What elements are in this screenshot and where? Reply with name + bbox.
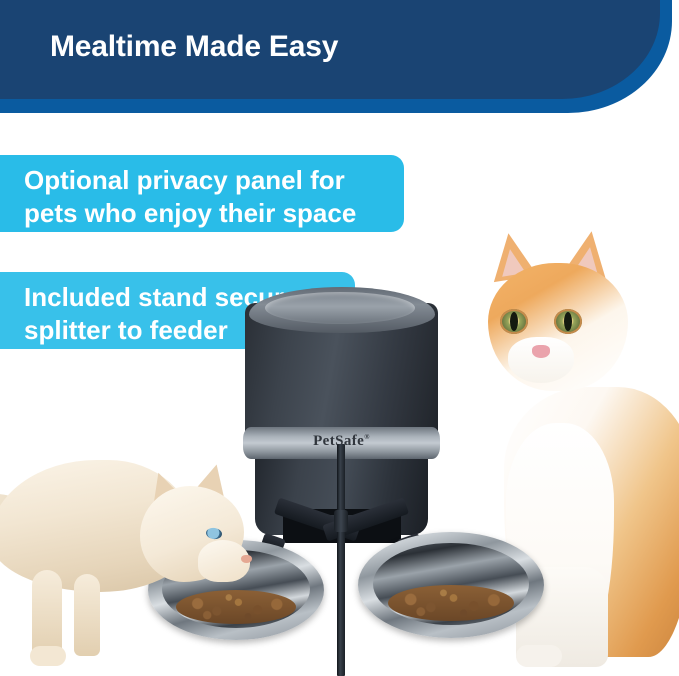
cat-orange-eye-right [554,309,582,334]
cat-orange-eye-left [500,309,528,334]
cat-cream-leg-back [74,574,100,656]
privacy-panel-stand-pole [337,444,345,676]
cat-cream-leg-front [32,570,62,658]
feeder-lid-inner [265,292,415,324]
food-bowl-right [358,532,544,638]
cat-orange-muzzle [508,337,574,383]
registered-mark: ® [364,433,370,441]
cat-orange-nose [532,345,550,358]
cat-cream-nose [241,555,252,563]
cat-cream-point [0,442,260,672]
product-photo: PetSafe® [0,112,679,676]
stand-clip [334,510,348,532]
page-title: Mealtime Made Easy [50,30,338,64]
product-marketing-image: Mealtime Made Easy Optional privacy pane… [0,0,679,676]
cat-orange-paw [516,645,562,667]
cat-cream-paw [30,646,66,666]
bowl-right-kibble [388,585,514,621]
